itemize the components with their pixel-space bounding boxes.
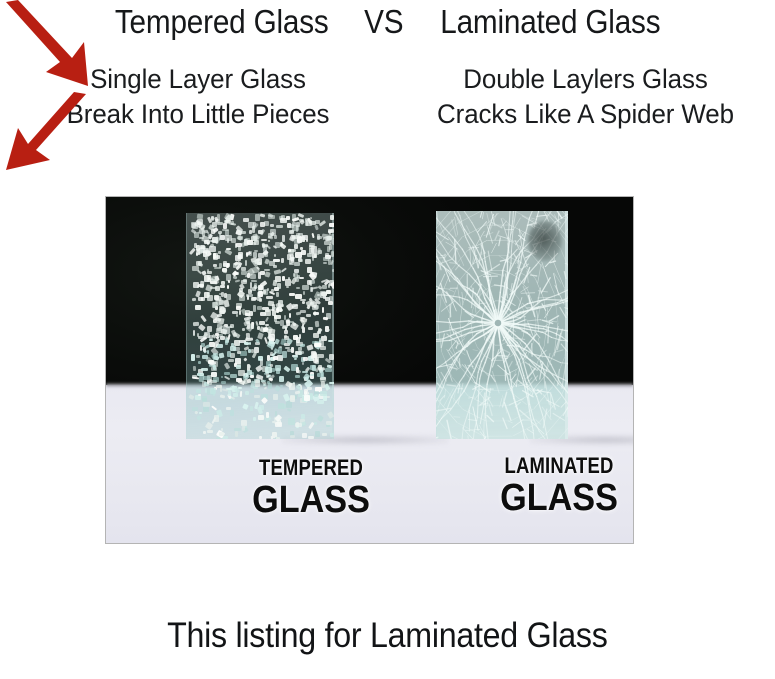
photo-label-laminated: LAMINATED GLASS — [454, 455, 633, 518]
caption-laminated: Double Laylers Glass Cracks Like A Spide… — [396, 62, 775, 131]
listing-note: This listing for Laminated Glass — [0, 616, 775, 656]
caption-tempered: Single Layer Glass Break Into Little Pie… — [8, 62, 388, 131]
glass-comparison-photo: TEMPERED GLASS LAMINATED GLASS — [106, 197, 633, 543]
tempered-glass-panel — [186, 213, 334, 439]
headline-separator: VS — [364, 3, 403, 41]
photo-label-laminated-big: GLASS — [465, 479, 634, 518]
caption-laminated-line2: Cracks Like A Spider Web — [404, 97, 768, 132]
laminated-glass-panel — [436, 211, 568, 439]
listing-note-text: This listing for Laminated Glass — [167, 616, 607, 656]
caption-laminated-line1: Double Laylers Glass — [404, 62, 768, 97]
photo-label-laminated-small: LAMINATED — [471, 455, 633, 477]
caption-tempered-line2: Break Into Little Pieces — [16, 97, 381, 132]
caption-tempered-line1: Single Layer Glass — [16, 62, 381, 97]
impact-point-icon — [528, 221, 562, 261]
photo-label-tempered-big: GLASS — [217, 481, 406, 520]
photo-label-tempered-small: TEMPERED — [223, 457, 399, 479]
tempered-shard-field — [186, 213, 334, 439]
headline-right-term: Laminated Glass — [440, 3, 660, 41]
headline-row: Tempered Glass VS Laminated Glass — [0, 0, 775, 44]
headline-left-term: Tempered Glass — [114, 3, 328, 41]
photo-label-tempered: TEMPERED GLASS — [206, 457, 416, 520]
